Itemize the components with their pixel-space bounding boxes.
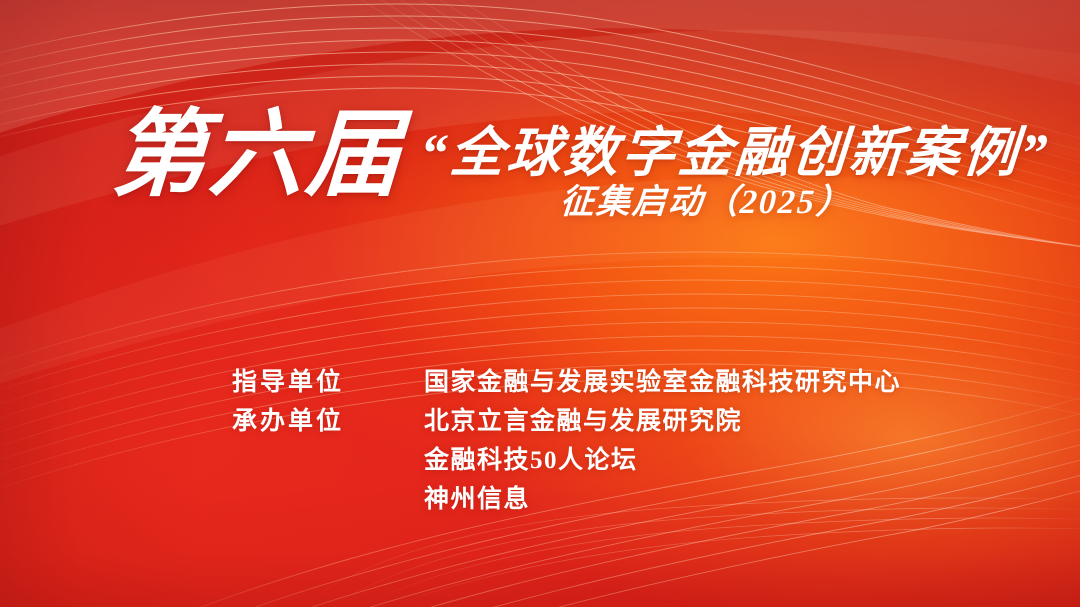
credit-value: 北京立言金融与发展研究院 <box>424 401 742 437</box>
poster-canvas: 第六届 “全球数字金融创新案例” 征集启动（2025） 指导单位 国家金融与发展… <box>0 0 1080 607</box>
title-edition: 第六届 <box>110 108 406 203</box>
credit-value: 神州信息 <box>424 479 530 515</box>
credits-block: 指导单位 国家金融与发展实验室金融科技研究中心 承办单位 北京立言金融与发展研究… <box>232 362 901 518</box>
title-block: 第六届 “全球数字金融创新案例” <box>0 112 1080 220</box>
title-subtitle: 征集启动（2025） <box>559 186 853 220</box>
credit-label: 指导单位 <box>232 362 424 398</box>
credit-row: 神州信息 <box>232 479 901 518</box>
poster-content: 第六届 “全球数字金融创新案例” 征集启动（2025） 指导单位 国家金融与发展… <box>0 0 1080 607</box>
credit-row: 承办单位 北京立言金融与发展研究院 <box>232 401 901 440</box>
credit-value: 国家金融与发展实验室金融科技研究中心 <box>424 362 901 398</box>
credit-row: 金融科技50人论坛 <box>232 440 901 479</box>
credit-value: 金融科技50人论坛 <box>424 440 638 476</box>
credit-label: 承办单位 <box>232 401 424 437</box>
title-quoted-name: “全球数字金融创新案例” <box>418 126 1052 180</box>
credit-row: 指导单位 国家金融与发展实验室金融科技研究中心 <box>232 362 901 401</box>
